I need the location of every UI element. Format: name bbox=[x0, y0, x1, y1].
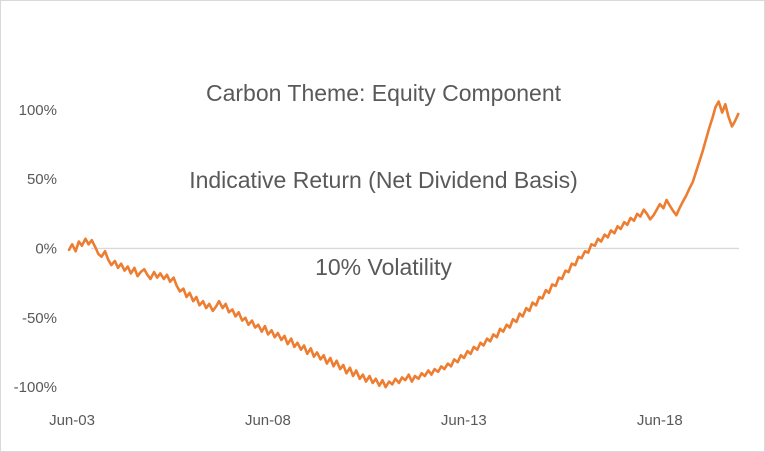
chart-container: Carbon Theme: Equity Component Indicativ… bbox=[0, 0, 765, 452]
x-tick-label: Jun-13 bbox=[441, 412, 487, 429]
x-tick-label: Jun-18 bbox=[637, 412, 683, 429]
x-tick-label: Jun-08 bbox=[245, 412, 291, 429]
line-chart-plot: 100%50%0%-50%-100% Jun-03Jun-08Jun-13Jun… bbox=[1, 1, 765, 452]
y-tick-label: 100% bbox=[19, 102, 57, 119]
y-tick-label: 0% bbox=[35, 240, 57, 257]
y-axis-tick-labels: 100%50%0%-50%-100% bbox=[14, 102, 57, 396]
y-tick-label: -50% bbox=[22, 310, 57, 327]
y-tick-label: -100% bbox=[14, 379, 57, 396]
x-axis-tick-labels: Jun-03Jun-08Jun-13Jun-18 bbox=[49, 412, 683, 429]
x-tick-label: Jun-03 bbox=[49, 412, 95, 429]
y-tick-label: 50% bbox=[27, 171, 57, 188]
return-series-line bbox=[69, 101, 738, 387]
